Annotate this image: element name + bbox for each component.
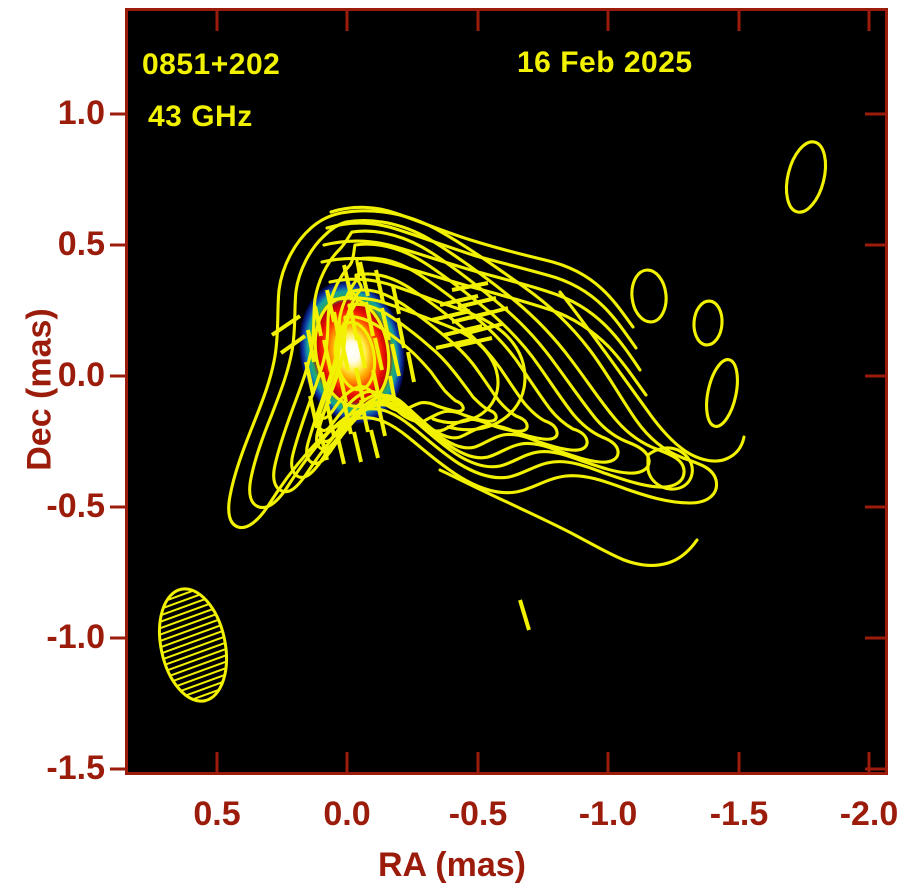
x-tick-label-6: -2.0 [799,795,904,834]
source-name-label: 0851+202 [142,48,280,82]
x-tick-label-4: -1.0 [538,795,678,834]
frequency-label: 43 GHz [148,100,253,134]
y-axis-title: Dec (mas) [21,260,60,520]
x-axis-title: RA (mas) [0,846,904,885]
y-tick-label-6: -1.5 [0,749,105,788]
y-tick-label-2: 0.5 [0,225,105,264]
x-tick-label-2: 0.0 [277,795,417,834]
x-tick-label-5: -1.5 [669,795,809,834]
x-tick-label-1: 0.5 [147,795,287,834]
figure-root: 0851+202 43 GHz 16 Feb 2025 1.0 0.5 0.0 … [0,0,904,891]
y-tick-label-1: 1.0 [0,94,105,133]
observation-date-label: 16 Feb 2025 [517,46,693,80]
x-tick-label-3: -0.5 [408,795,548,834]
y-tick-label-5: -1.0 [0,618,105,657]
